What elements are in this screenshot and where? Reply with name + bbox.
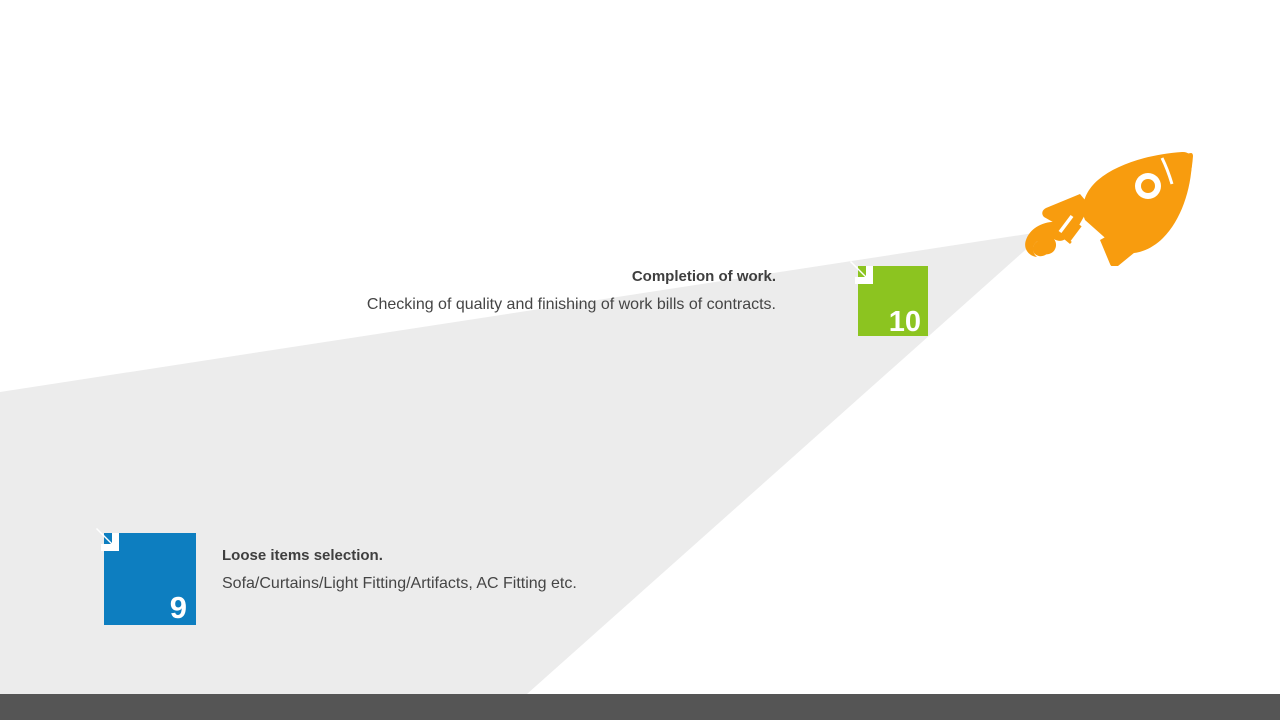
step-title-10: Completion of work. [156, 268, 776, 287]
step-text-9: Loose items selection. Sofa/Curtains/Lig… [222, 547, 842, 594]
step-number-9: 9 [170, 592, 187, 623]
arrow-down-right-icon [92, 524, 126, 558]
step-title-9: Loose items selection. [222, 547, 842, 566]
rocket-icon [1022, 148, 1202, 266]
footer-bar [0, 694, 1280, 720]
step-number-10: 10 [889, 308, 921, 337]
step-description-9: Sofa/Curtains/Light Fitting/Artifacts, A… [222, 574, 842, 594]
slide-canvas: 10 Completion of work. Checking of quali… [0, 0, 1280, 720]
step-number-box-9: 9 [104, 533, 196, 625]
step-number-box-10: 10 [858, 266, 928, 336]
step-text-10: Completion of work. Checking of quality … [156, 268, 776, 315]
arrow-down-right-icon [846, 257, 880, 291]
step-description-10: Checking of quality and finishing of wor… [156, 295, 776, 315]
